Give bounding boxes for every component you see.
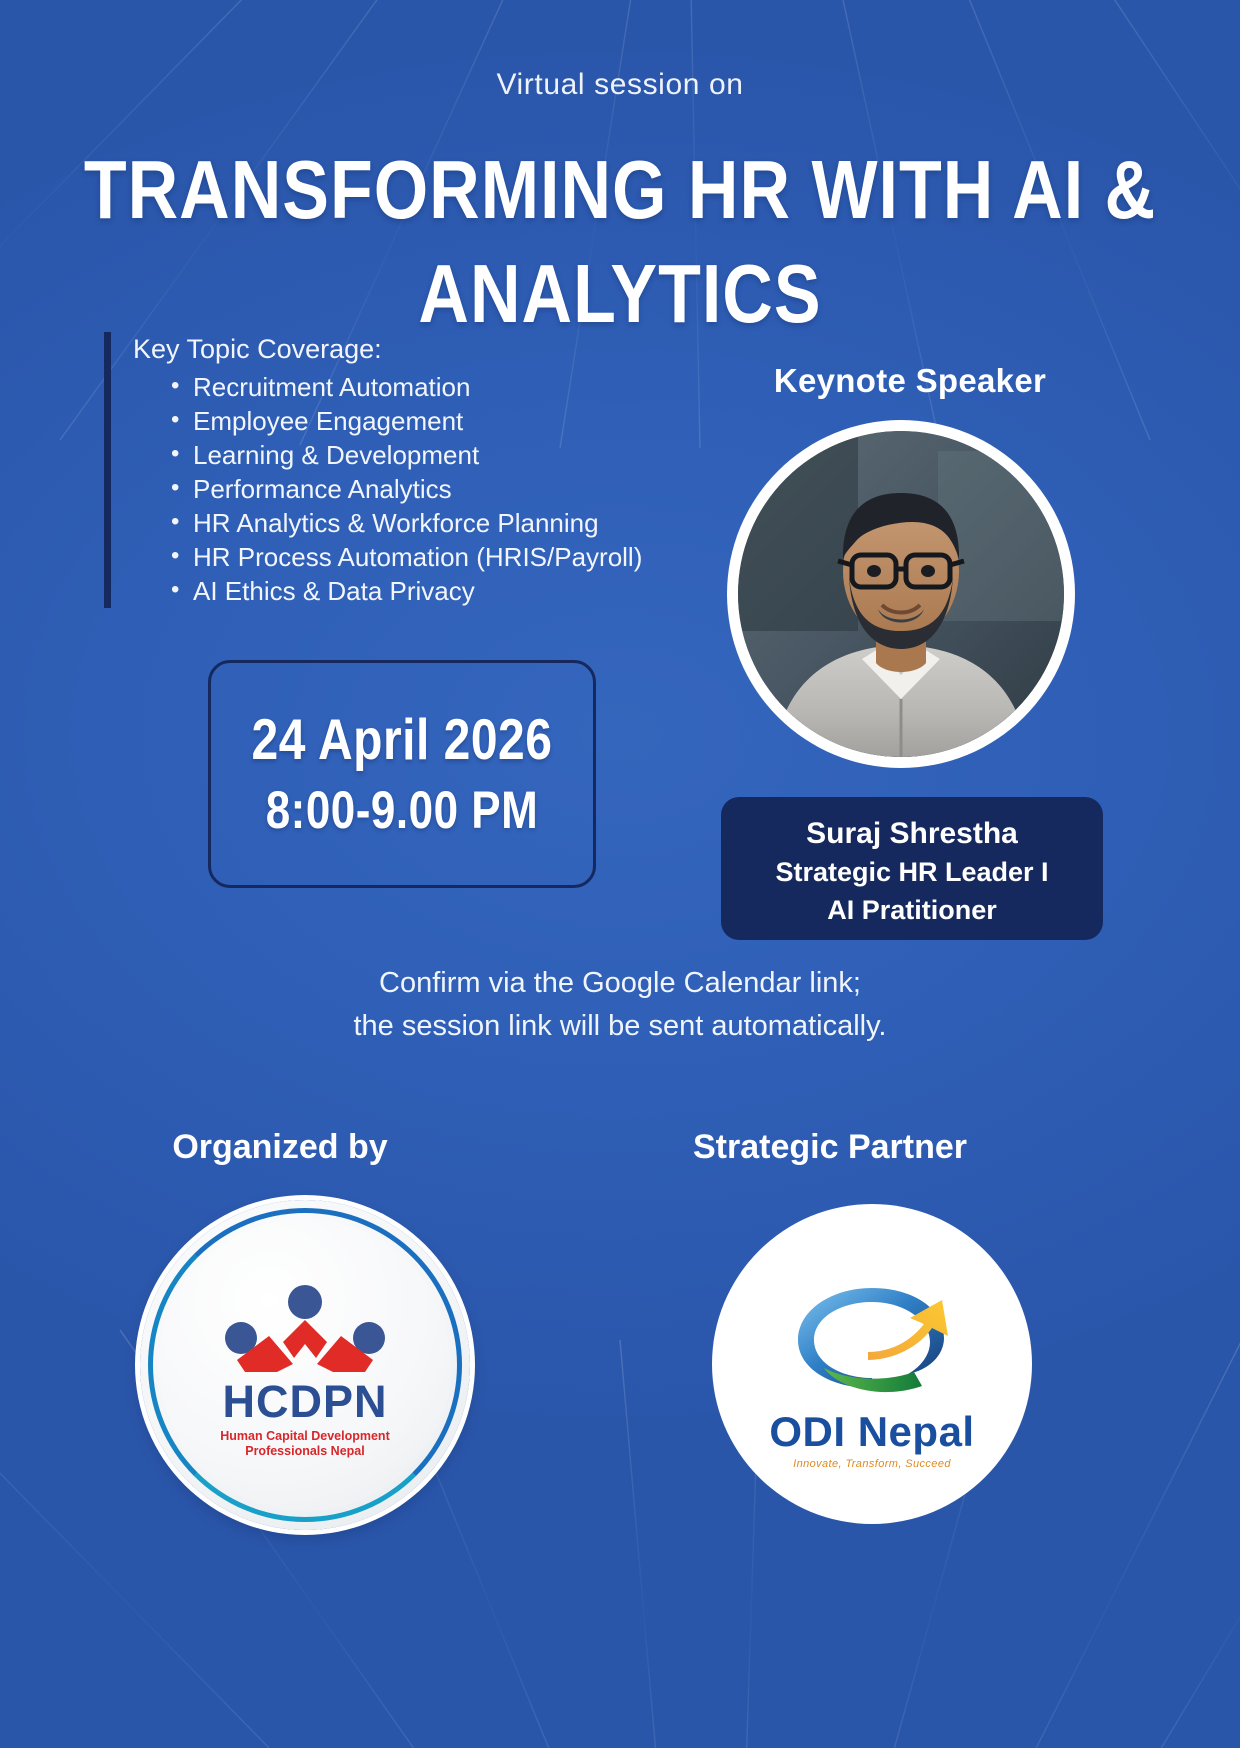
confirmation-note: Confirm via the Google Calendar link; th… bbox=[0, 962, 1240, 1048]
speaker-portrait-icon bbox=[738, 431, 1064, 757]
key-topics-block: Key Topic Coverage: Recruitment Automati… bbox=[104, 332, 704, 608]
list-item: Learning & Development bbox=[171, 438, 704, 472]
partner-logo: ODI Nepal Innovate, Transform, Succeed bbox=[712, 1204, 1032, 1524]
confirmation-line-1: Confirm via the Google Calendar link; bbox=[0, 962, 1240, 1005]
key-topics-heading: Key Topic Coverage: bbox=[133, 332, 704, 366]
partner-name: ODI Nepal bbox=[769, 1408, 974, 1456]
list-item: HR Process Automation (HRIS/Payroll) bbox=[171, 540, 704, 574]
strategic-partner-label: Strategic Partner bbox=[640, 1128, 1020, 1167]
eyebrow-text: Virtual session on bbox=[0, 68, 1240, 102]
people-group-icon bbox=[215, 1280, 395, 1376]
speaker-role-line-1: Strategic HR Leader I bbox=[775, 853, 1048, 891]
organized-by-label: Organized by bbox=[90, 1128, 470, 1167]
logo-inner: HCDPN Human Capital Development Professi… bbox=[159, 1219, 451, 1511]
partner-tagline: Innovate, Transform, Succeed bbox=[793, 1458, 951, 1470]
event-date: 24 April 2026 bbox=[252, 707, 553, 773]
page-title: Transforming HR with AI & Analytics bbox=[70, 138, 1170, 346]
organizer-logo: HCDPN Human Capital Development Professi… bbox=[140, 1200, 470, 1530]
organizer-acronym: HCDPN bbox=[222, 1378, 387, 1426]
event-time: 8:00-9.00 PM bbox=[266, 781, 539, 841]
list-item: Recruitment Automation bbox=[171, 370, 704, 404]
speaker-name-card: Suraj Shrestha Strategic HR Leader I AI … bbox=[721, 797, 1103, 940]
organizer-name-line-2: Professionals Nepal bbox=[220, 1444, 389, 1459]
keynote-speaker-label: Keynote Speaker bbox=[700, 362, 1120, 400]
date-time-box: 24 April 2026 8:00-9.00 PM bbox=[208, 660, 596, 888]
organizer-name-line-1: Human Capital Development bbox=[220, 1429, 389, 1444]
speaker-role-line-2: AI Pratitioner bbox=[827, 891, 997, 929]
organizer-name: Human Capital Development Professionals … bbox=[220, 1429, 389, 1459]
list-item: Employee Engagement bbox=[171, 404, 704, 438]
speaker-photo-frame bbox=[727, 420, 1075, 768]
event-poster: Virtual session on Transforming HR with … bbox=[0, 0, 1240, 1748]
avatar bbox=[738, 431, 1064, 757]
odi-swirl-icon bbox=[772, 1264, 972, 1414]
speaker-name: Suraj Shrestha bbox=[806, 815, 1018, 853]
list-item: AI Ethics & Data Privacy bbox=[171, 574, 704, 608]
list-item: HR Analytics & Workforce Planning bbox=[171, 506, 704, 540]
confirmation-line-2: the session link will be sent automatica… bbox=[0, 1005, 1240, 1048]
key-topics-list: Recruitment Automation Employee Engageme… bbox=[133, 370, 704, 608]
list-item: Performance Analytics bbox=[171, 472, 704, 506]
